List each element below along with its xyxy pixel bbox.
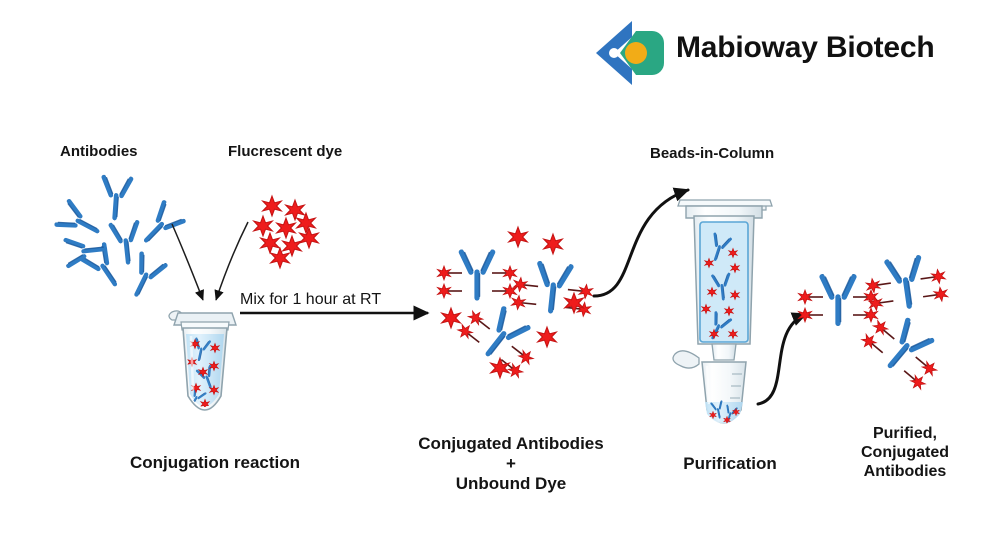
feed-arrows (172, 222, 248, 300)
caption-purified-conjugated: Purified, Conjugated Antibodies (830, 425, 980, 482)
caption-purification: Purification (620, 454, 840, 474)
purified-conjugates-cluster (798, 254, 949, 392)
load-column-arrow (594, 190, 688, 296)
free-antibodies-cluster (56, 176, 184, 300)
eppendorf-tube (169, 311, 236, 410)
conjugated-mixture-cluster (437, 227, 594, 380)
label-fluorescent-dye: Flucrescent dye (228, 143, 408, 161)
diagram-canvas: Mabioway Biotech (0, 0, 994, 534)
elute-arrow (758, 314, 806, 404)
free-dye-cluster (254, 196, 319, 268)
label-beads-in-column: Beads-in-Column (650, 145, 840, 163)
caption-conjugation-reaction: Conjugation reaction (60, 453, 370, 473)
caption-conjugated-antibodies: Conjugated Antibodies + Unbound Dye (380, 434, 642, 494)
spin-column (673, 200, 772, 424)
label-mix-step: Mix for 1 hour at RT (240, 291, 436, 310)
label-antibodies: Antibodies (60, 143, 230, 161)
